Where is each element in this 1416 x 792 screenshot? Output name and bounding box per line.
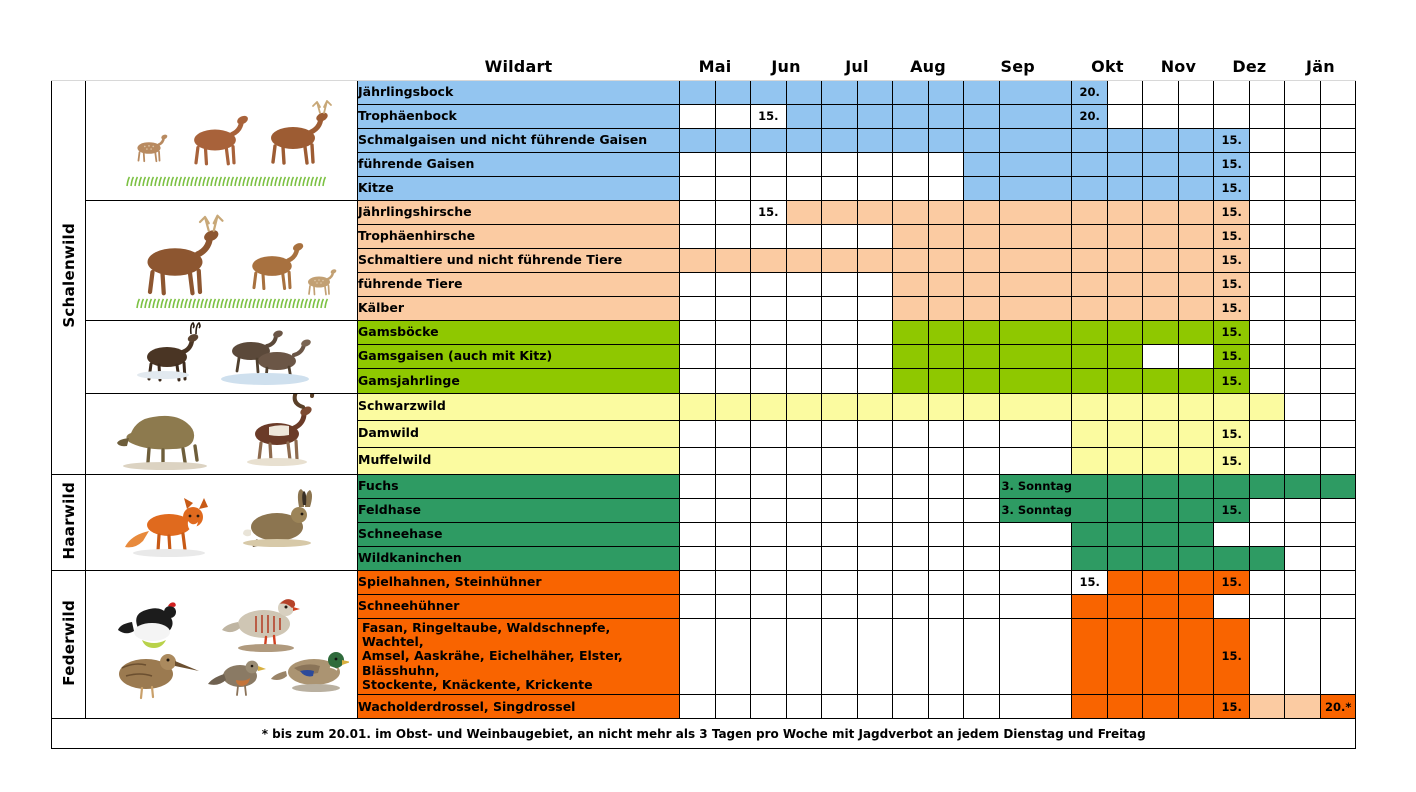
season-cell <box>928 522 964 546</box>
season-cell <box>822 344 858 368</box>
season-cell <box>1320 152 1356 176</box>
season-cell <box>964 248 1000 272</box>
season-cell: 3. Sonntag <box>999 474 1072 498</box>
season-cell <box>999 224 1072 248</box>
season-cell <box>1072 420 1108 447</box>
season-cell <box>857 369 893 393</box>
season-cell <box>1072 152 1108 176</box>
season-cell <box>1178 695 1214 719</box>
gamswild-illustration-wrap <box>86 321 357 393</box>
table-row: Schwarzwild <box>52 393 1356 420</box>
season-cell: 15. <box>1214 320 1250 344</box>
season-cell <box>715 393 751 420</box>
season-cell <box>715 447 751 474</box>
season-cell <box>822 695 858 719</box>
season-cell <box>680 594 716 618</box>
schwarzwild-muffelwild-illustration <box>86 393 358 474</box>
season-cell <box>999 248 1072 272</box>
season-cell: 20.* <box>1320 695 1356 719</box>
season-cell <box>857 695 893 719</box>
species-label: Schmaltiere und nicht führende Tiere <box>358 248 680 272</box>
season-cell <box>1107 200 1143 224</box>
season-cell <box>680 447 716 474</box>
season-cell: 15. <box>1214 248 1250 272</box>
species-label: Spielhahnen, Steinhühner <box>358 570 680 594</box>
group-label-haarwild: Haarwild <box>52 474 86 570</box>
season-cell <box>1107 296 1143 320</box>
species-label: Trophäenbock <box>358 104 680 128</box>
season-cell: 15. <box>1214 420 1250 447</box>
season-cell <box>1214 393 1250 420</box>
season-cell <box>1178 474 1214 498</box>
season-cell <box>857 296 893 320</box>
season-cell <box>1320 420 1356 447</box>
season-cell <box>751 248 787 272</box>
season-cell <box>786 344 822 368</box>
season-cell <box>786 522 822 546</box>
season-cell <box>964 498 1000 522</box>
season-cell <box>1320 498 1356 522</box>
season-cell <box>751 393 787 420</box>
season-cell <box>928 695 964 719</box>
header-wildart: Wildart <box>358 54 680 80</box>
federwild-illustration <box>86 570 358 719</box>
season-cell <box>928 420 964 447</box>
season-cell <box>1320 80 1356 104</box>
season-cell <box>928 248 964 272</box>
season-cell <box>786 320 822 344</box>
season-cell <box>751 546 787 570</box>
season-cell <box>1178 320 1214 344</box>
season-cell <box>1249 420 1285 447</box>
season-cell <box>964 570 1000 594</box>
season-cell <box>1249 296 1285 320</box>
season-cell <box>822 224 858 248</box>
season-cell <box>857 594 893 618</box>
species-label: führende Gaisen <box>358 152 680 176</box>
season-cell <box>893 176 929 200</box>
season-cell <box>999 320 1072 344</box>
season-cell <box>893 594 929 618</box>
season-cell <box>893 152 929 176</box>
season-cell <box>1249 128 1285 152</box>
species-label: Schwarzwild <box>358 393 680 420</box>
species-label: Gamsjahrlinge <box>358 369 680 393</box>
season-cell <box>822 570 858 594</box>
season-cell <box>680 320 716 344</box>
season-cell <box>680 695 716 719</box>
season-cell <box>822 618 858 695</box>
season-cell <box>1249 320 1285 344</box>
season-cell: 20. <box>1072 80 1108 104</box>
season-cell <box>1107 546 1143 570</box>
season-cell <box>1107 320 1143 344</box>
season-cell <box>1072 618 1108 695</box>
season-cell <box>857 618 893 695</box>
season-cell <box>928 224 964 248</box>
season-cell <box>999 80 1072 104</box>
season-cell <box>1143 570 1179 594</box>
season-cell <box>928 570 964 594</box>
season-cell <box>999 393 1072 420</box>
season-cell <box>680 104 716 128</box>
season-cell: 15. <box>1214 447 1250 474</box>
season-cell <box>1107 570 1143 594</box>
season-cell <box>1214 546 1250 570</box>
season-cell <box>715 522 751 546</box>
season-cell <box>999 570 1072 594</box>
season-cell <box>964 369 1000 393</box>
header-month-jän: Jän <box>1285 54 1356 80</box>
season-cell <box>1072 272 1108 296</box>
season-cell <box>1249 570 1285 594</box>
season-cell <box>1249 594 1285 618</box>
season-cell <box>1320 570 1356 594</box>
season-cell <box>715 594 751 618</box>
season-cell <box>1178 447 1214 474</box>
season-cell <box>964 618 1000 695</box>
fuchs-hase-illustration <box>86 474 358 570</box>
season-cell <box>1285 618 1321 695</box>
header-month-jul: Jul <box>822 54 893 80</box>
season-cell <box>680 393 716 420</box>
season-cell <box>1178 248 1214 272</box>
season-cell <box>680 570 716 594</box>
season-cell <box>928 296 964 320</box>
season-cell <box>893 200 929 224</box>
season-cell <box>1285 272 1321 296</box>
species-label: Fuchs <box>358 474 680 498</box>
season-cell <box>1249 248 1285 272</box>
season-cell <box>1143 447 1179 474</box>
season-cell <box>964 447 1000 474</box>
season-cell <box>715 695 751 719</box>
season-cell <box>715 420 751 447</box>
season-cell <box>1320 104 1356 128</box>
season-cell <box>1320 594 1356 618</box>
season-cell <box>1143 369 1179 393</box>
season-cell <box>680 128 716 152</box>
season-cell <box>1143 176 1179 200</box>
season-cell <box>1107 344 1143 368</box>
season-cell <box>1320 546 1356 570</box>
season-cell: 15. <box>1214 200 1250 224</box>
season-cell <box>928 546 964 570</box>
season-cell <box>1178 152 1214 176</box>
jagdzeiten-page: WildartMaiJunJulAugSepOktNovDezJänSchale… <box>0 0 1416 792</box>
season-cell <box>1214 594 1250 618</box>
season-cell <box>999 594 1072 618</box>
season-cell <box>1143 128 1179 152</box>
rotwild-illustration <box>86 200 358 320</box>
season-cell <box>822 296 858 320</box>
season-cell <box>715 570 751 594</box>
season-cell <box>680 522 716 546</box>
season-cell <box>893 320 929 344</box>
season-cell <box>680 498 716 522</box>
season-cell <box>715 80 751 104</box>
season-cell <box>999 344 1072 368</box>
group-label-text: Haarwild <box>60 482 78 559</box>
season-cell <box>1178 369 1214 393</box>
season-cell <box>1320 369 1356 393</box>
season-cell <box>822 272 858 296</box>
season-cell <box>1072 546 1108 570</box>
season-cell <box>751 152 787 176</box>
season-cell <box>964 296 1000 320</box>
season-cell <box>1249 80 1285 104</box>
season-cell <box>893 80 929 104</box>
season-cell: 15. <box>1214 176 1250 200</box>
season-cell <box>1285 420 1321 447</box>
season-cell <box>893 695 929 719</box>
season-cell <box>1320 618 1356 695</box>
season-cell <box>893 447 929 474</box>
season-cell <box>964 80 1000 104</box>
season-cell <box>1072 393 1108 420</box>
header-month-sep: Sep <box>964 54 1072 80</box>
season-cell <box>893 272 929 296</box>
season-cell <box>751 522 787 546</box>
season-cell <box>822 420 858 447</box>
season-cell <box>893 104 929 128</box>
season-cell <box>1143 248 1179 272</box>
season-cell <box>1143 272 1179 296</box>
rotwild-illustration-wrap <box>86 206 357 314</box>
season-cell <box>1107 618 1143 695</box>
season-cell <box>1072 248 1108 272</box>
species-label: Schneehase <box>358 522 680 546</box>
season-cell <box>1178 570 1214 594</box>
season-cell <box>999 420 1072 447</box>
rehwild-illustration <box>86 80 358 200</box>
season-cell <box>786 546 822 570</box>
season-cell <box>1178 80 1214 104</box>
season-cell <box>822 594 858 618</box>
season-cell <box>822 447 858 474</box>
season-cell: 15. <box>1214 570 1250 594</box>
header-month-nov: Nov <box>1143 54 1214 80</box>
season-cell: 15. <box>1214 695 1250 719</box>
season-cell <box>857 200 893 224</box>
season-cell <box>786 420 822 447</box>
season-cell <box>1178 393 1214 420</box>
season-cell <box>751 80 787 104</box>
season-cell <box>1285 200 1321 224</box>
season-cell <box>822 200 858 224</box>
season-cell <box>715 546 751 570</box>
season-cell <box>680 200 716 224</box>
season-cell <box>715 369 751 393</box>
season-cell <box>964 594 1000 618</box>
season-cell <box>1320 272 1356 296</box>
season-cell <box>1214 474 1250 498</box>
season-cell <box>928 104 964 128</box>
season-cell <box>893 498 929 522</box>
season-cell <box>1143 152 1179 176</box>
season-cell: 15. <box>1072 570 1108 594</box>
season-cell <box>1107 248 1143 272</box>
season-cell <box>893 474 929 498</box>
season-cell <box>1107 393 1143 420</box>
season-cell <box>822 498 858 522</box>
season-cell <box>964 546 1000 570</box>
season-cell <box>893 224 929 248</box>
season-cell <box>1107 104 1143 128</box>
season-cell <box>786 200 822 224</box>
season-cell <box>751 594 787 618</box>
season-cell <box>1285 447 1321 474</box>
season-cell <box>999 200 1072 224</box>
season-cell <box>822 393 858 420</box>
season-cell <box>928 320 964 344</box>
season-cell <box>786 224 822 248</box>
season-cell <box>893 344 929 368</box>
season-cell <box>751 320 787 344</box>
season-cell: 15. <box>1214 152 1250 176</box>
season-cell <box>893 369 929 393</box>
season-cell <box>1285 80 1321 104</box>
season-cell <box>680 420 716 447</box>
season-cell <box>964 474 1000 498</box>
season-cell <box>1072 594 1108 618</box>
season-cell <box>1285 522 1321 546</box>
species-label: Gamsböcke <box>358 320 680 344</box>
season-cell: 15. <box>1214 498 1250 522</box>
season-cell <box>928 344 964 368</box>
season-cell: 15. <box>751 104 787 128</box>
table-row: Schalenwild Jährlingsbock20. <box>52 80 1356 104</box>
season-cell <box>786 272 822 296</box>
season-cell <box>680 80 716 104</box>
season-cell <box>1249 695 1285 719</box>
season-cell <box>1320 224 1356 248</box>
season-cell <box>999 296 1072 320</box>
season-cell <box>964 695 1000 719</box>
season-cell <box>893 128 929 152</box>
season-cell <box>1249 498 1285 522</box>
season-cell <box>715 104 751 128</box>
species-label: Wildkaninchen <box>358 546 680 570</box>
season-cell <box>857 393 893 420</box>
season-cell: 3. Sonntag <box>999 498 1072 522</box>
season-cell <box>857 152 893 176</box>
season-cell <box>1285 344 1321 368</box>
season-cell <box>1285 128 1321 152</box>
season-cell <box>680 248 716 272</box>
fuchs-hase-illustration-wrap <box>86 481 357 563</box>
species-label: Wacholderdrossel, Singdrossel <box>358 695 680 719</box>
table-header-row: WildartMaiJunJulAugSepOktNovDezJän <box>52 54 1356 80</box>
season-cell <box>1320 393 1356 420</box>
season-cell <box>1143 420 1179 447</box>
season-cell <box>999 695 1072 719</box>
season-cell <box>1143 200 1179 224</box>
season-cell <box>822 248 858 272</box>
season-cell <box>1285 369 1321 393</box>
season-cell <box>822 152 858 176</box>
species-label: Kitze <box>358 176 680 200</box>
season-cell <box>999 104 1072 128</box>
season-cell <box>1178 224 1214 248</box>
season-cell <box>1143 695 1179 719</box>
season-cell <box>680 546 716 570</box>
season-cell <box>893 248 929 272</box>
species-label: Gamsgaisen (auch mit Kitz) <box>358 344 680 368</box>
season-cell <box>1285 546 1321 570</box>
season-cell <box>1249 546 1285 570</box>
season-cell <box>964 420 1000 447</box>
season-cell <box>786 80 822 104</box>
season-cell <box>893 393 929 420</box>
season-cell <box>680 152 716 176</box>
season-cell: 15. <box>1214 344 1250 368</box>
season-cell <box>751 695 787 719</box>
season-cell <box>680 296 716 320</box>
season-cell <box>1320 248 1356 272</box>
season-cell <box>680 344 716 368</box>
season-cell <box>1143 474 1179 498</box>
season-cell <box>1107 128 1143 152</box>
season-cell <box>1072 128 1108 152</box>
season-cell <box>1143 594 1179 618</box>
season-cell <box>1107 420 1143 447</box>
season-cell <box>1072 522 1108 546</box>
season-cell: 15. <box>1214 224 1250 248</box>
season-cell <box>999 176 1072 200</box>
season-cell <box>964 522 1000 546</box>
season-cell <box>1107 447 1143 474</box>
season-cell <box>715 248 751 272</box>
season-cell <box>1107 272 1143 296</box>
season-cell <box>1320 320 1356 344</box>
season-cell <box>715 498 751 522</box>
season-cell <box>964 272 1000 296</box>
season-cell <box>928 594 964 618</box>
season-cell <box>1107 80 1143 104</box>
season-cell <box>751 344 787 368</box>
season-cell <box>751 369 787 393</box>
season-cell <box>964 393 1000 420</box>
season-cell <box>1178 272 1214 296</box>
species-label: Jährlingsbock <box>358 80 680 104</box>
season-cell <box>1320 200 1356 224</box>
season-cell <box>1249 369 1285 393</box>
season-cell <box>751 224 787 248</box>
season-cell <box>751 447 787 474</box>
season-cell <box>1285 393 1321 420</box>
season-cell <box>1285 695 1321 719</box>
season-cell <box>1320 128 1356 152</box>
season-cell <box>786 618 822 695</box>
header-month-dez: Dez <box>1214 54 1285 80</box>
season-cell <box>822 474 858 498</box>
season-cell <box>715 176 751 200</box>
season-cell <box>715 272 751 296</box>
season-cell <box>786 474 822 498</box>
season-cell <box>715 344 751 368</box>
season-cell: 15. <box>751 200 787 224</box>
season-cell <box>857 104 893 128</box>
season-cell <box>857 248 893 272</box>
season-cell <box>964 176 1000 200</box>
season-cell <box>1285 594 1321 618</box>
season-cell <box>786 695 822 719</box>
season-cell <box>751 570 787 594</box>
season-cell <box>680 618 716 695</box>
season-cell <box>786 498 822 522</box>
season-cell <box>1072 369 1108 393</box>
